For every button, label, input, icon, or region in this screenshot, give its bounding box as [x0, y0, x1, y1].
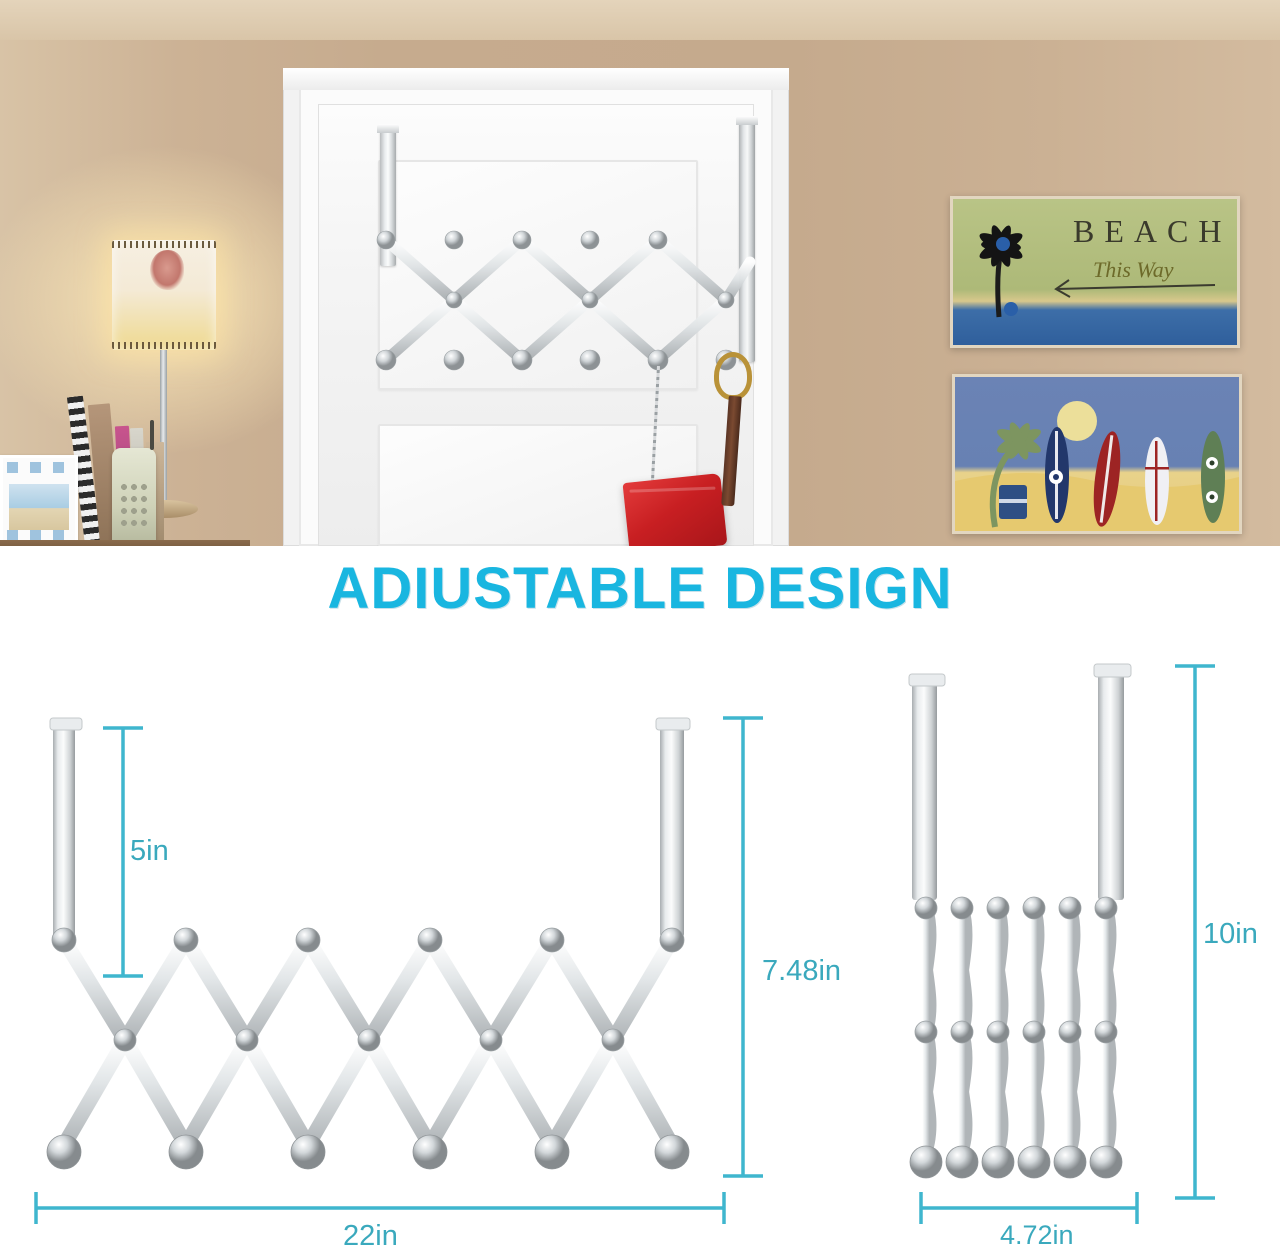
dimension-22in-label: 22in	[343, 1220, 398, 1253]
dimension-748in-label: 7.48in	[762, 955, 841, 988]
collapsed-rack-view	[890, 660, 1180, 1200]
red-handbag	[623, 473, 728, 546]
dimension-diagram: 5in 7.48in 22in	[0, 640, 1280, 1250]
strap-cap-right	[736, 116, 758, 125]
surfer-print	[150, 250, 184, 290]
hook-right-collapsed	[1094, 664, 1131, 900]
dimension-5in-label: 5in	[130, 835, 169, 868]
collapsed-joints	[915, 897, 1117, 1043]
photo-frame	[0, 455, 78, 546]
dimension-472in-label: 4.72in	[1000, 1220, 1074, 1251]
belt-buckle	[714, 352, 752, 400]
beach-sign-art: BEACH This Way	[950, 196, 1240, 348]
lifestyle-photo: BEACH This Way	[0, 0, 1280, 546]
frame-picture	[9, 484, 69, 530]
lamp-shade	[112, 240, 216, 350]
beach-chair-icon	[999, 485, 1027, 519]
phone-antenna	[150, 420, 154, 450]
shelf	[0, 540, 250, 546]
beach-sign-title: BEACH	[1073, 213, 1231, 250]
collapsed-lattice	[923, 908, 1110, 1150]
dimension-10in-label: 10in	[1203, 918, 1258, 951]
ceiling	[0, 0, 1280, 40]
shade-stitch-bottom	[112, 342, 216, 349]
hook-right	[656, 718, 690, 937]
dimension-748in-line	[715, 712, 775, 1182]
rack-expanded-on-door	[358, 222, 758, 382]
product-infographic: BEACH This Way	[0, 0, 1280, 1250]
collapsed-hook-balls	[910, 1146, 1122, 1178]
surfboard-beach-art	[952, 374, 1242, 534]
beach-sign-subtitle: This Way	[1093, 257, 1173, 283]
door-casing-top	[283, 68, 789, 90]
cordless-phone	[112, 448, 156, 546]
hook-left-collapsed	[909, 674, 945, 900]
strap-cap-left	[377, 124, 399, 133]
phone-keypad	[119, 482, 149, 536]
hook-left	[50, 718, 82, 937]
hook-balls	[47, 1135, 689, 1169]
palm-tree-icon	[977, 223, 1026, 317]
page-title: ADIUSTABLE DESIGN	[0, 560, 1280, 618]
shade-stitch-top	[112, 241, 216, 248]
